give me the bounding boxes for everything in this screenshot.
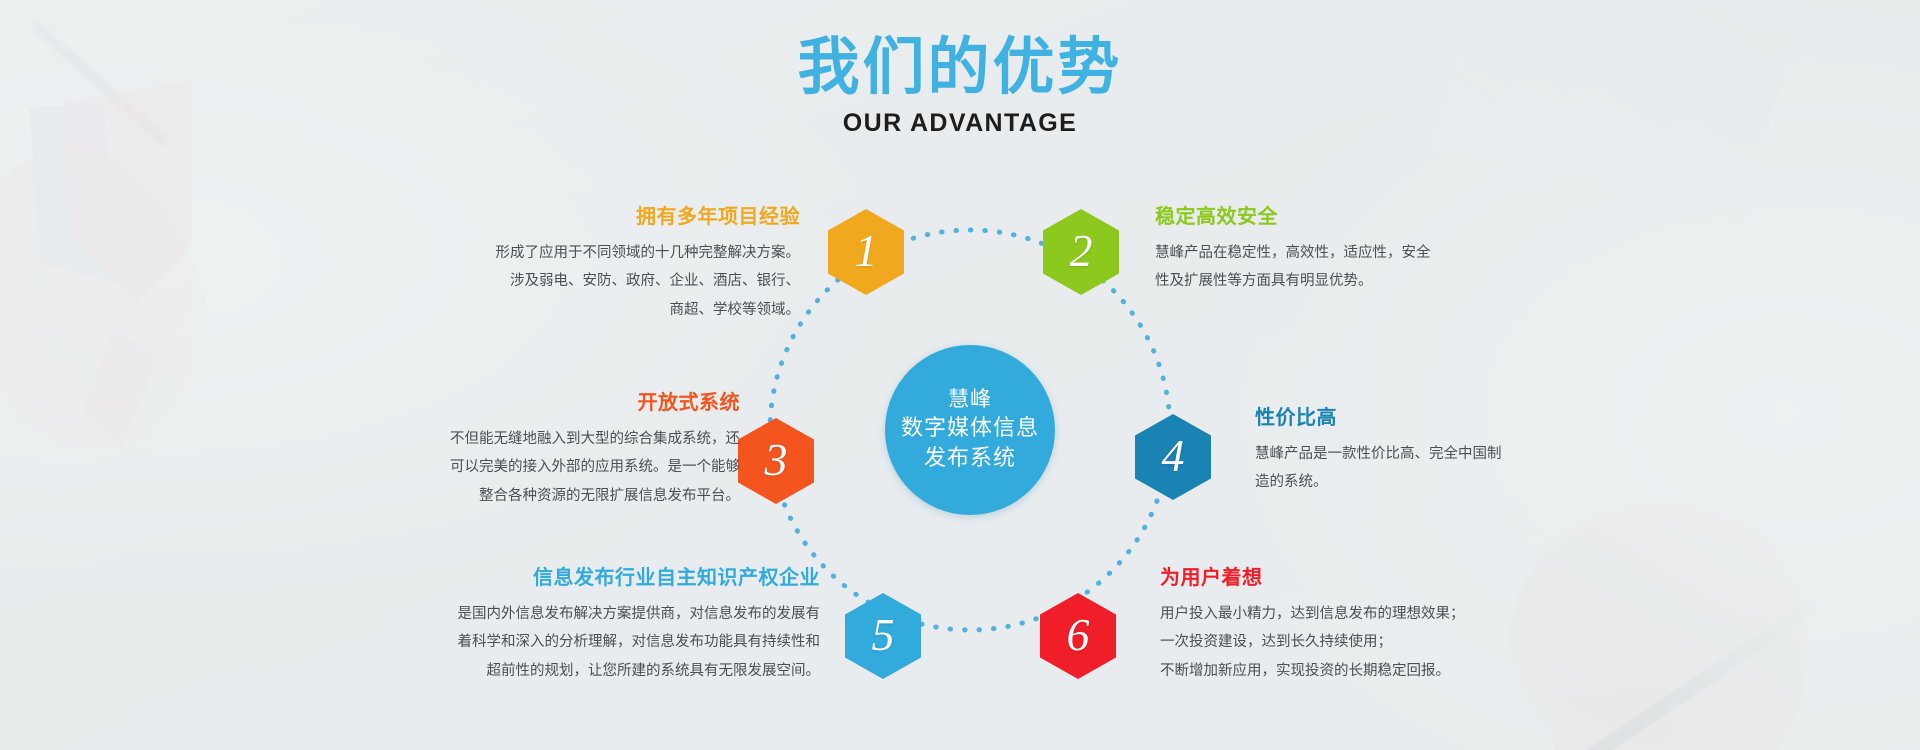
hexagon-number-2: 2 [1070, 228, 1093, 274]
hexagon-number-3: 3 [765, 437, 788, 483]
advantage-infographic: 我们的优势 OUR ADVANTAGE 慧峰 数字媒体信息 发布系统 1 2 3… [0, 0, 1920, 750]
advantage-title-3: 开放式系统 [330, 390, 740, 414]
advantage-item-3: 开放式系统 不但能无缝地融入到大型的综合集成系统，还可以完美的接入外部的应用系统… [330, 390, 740, 510]
advantage-title-6: 为用户着想 [1160, 565, 1580, 589]
page-subtitle: OUR ADVANTAGE [0, 109, 1920, 138]
advantage-title-4: 性价比高 [1255, 405, 1655, 429]
advantage-body-6: 用户投入最小精力，达到信息发布的理想效果；一次投资建设，达到长久持续使用；不断增… [1160, 600, 1580, 685]
center-line-1: 慧峰 [948, 385, 992, 414]
advantage-body-4: 慧峰产品是一款性价比高、完全中国制造的系统。 [1255, 440, 1655, 497]
advantage-body-1: 形成了应用于不同领域的十几种完整解决方案。涉及弱电、安防、政府、企业、酒店、银行… [400, 239, 800, 324]
advantage-body-2: 慧峰产品在稳定性，高效性，适应性，安全性及扩展性等方面具有明显优势。 [1155, 239, 1575, 296]
advantage-item-6: 为用户着想 用户投入最小精力，达到信息发布的理想效果；一次投资建设，达到长久持续… [1160, 565, 1580, 685]
center-line-3: 发布系统 [924, 444, 1016, 474]
advantage-title-1: 拥有多年项目经验 [400, 204, 800, 228]
center-line-2: 数字媒体信息 [901, 414, 1039, 444]
hexagon-number-1: 1 [855, 228, 878, 274]
advantage-item-5: 信息发布行业自主知识产权企业 是国内外信息发布解决方案提供商，对信息发布的发展有… [380, 565, 820, 685]
advantage-item-1: 拥有多年项目经验 形成了应用于不同领域的十几种完整解决方案。涉及弱电、安防、政府… [400, 204, 800, 324]
advantage-body-5: 是国内外信息发布解决方案提供商，对信息发布的发展有着科学和深入的分析理解，对信息… [380, 600, 820, 685]
advantage-item-2: 稳定高效安全 慧峰产品在稳定性，高效性，适应性，安全性及扩展性等方面具有明显优势… [1155, 204, 1575, 296]
hexagon-number-4: 4 [1162, 433, 1185, 479]
hexagon-number-6: 6 [1067, 612, 1090, 658]
advantage-title-5: 信息发布行业自主知识产权企业 [380, 565, 820, 589]
hexagon-number-5: 5 [872, 612, 895, 658]
page-title: 我们的优势 [0, 34, 1920, 101]
advantage-item-4: 性价比高 慧峰产品是一款性价比高、完全中国制造的系统。 [1255, 405, 1655, 497]
center-system-label: 慧峰 数字媒体信息 发布系统 [885, 345, 1055, 515]
header: 我们的优势 OUR ADVANTAGE [0, 34, 1920, 138]
advantage-title-2: 稳定高效安全 [1155, 204, 1575, 228]
advantage-body-3: 不但能无缝地融入到大型的综合集成系统，还可以完美的接入外部的应用系统。是一个能够… [330, 425, 740, 510]
